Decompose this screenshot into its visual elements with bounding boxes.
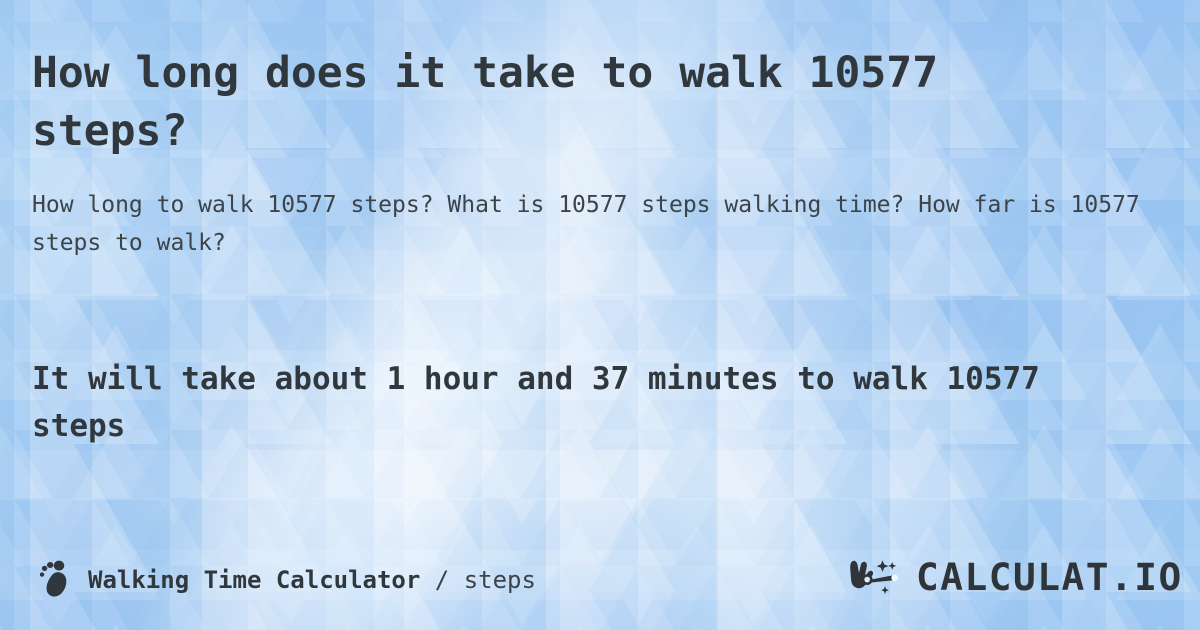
og-image-card: How long does it take to walk 10577 step… (0, 0, 1200, 630)
page-title: How long does it take to walk 10577 step… (32, 44, 1112, 160)
brand-label: Walking Time Calculator / steps (88, 566, 536, 594)
answer-text: It will take about 1 hour and 37 minutes… (32, 356, 1122, 450)
brand-name: Walking Time Calculator (88, 566, 420, 594)
logo-wordmark: CALCULAT.IO (916, 559, 1183, 597)
card-content: How long does it take to walk 10577 step… (0, 0, 1200, 630)
hand-magic-wand-icon (848, 557, 910, 599)
page-subtitle: How long to walk 10577 steps? What is 10… (32, 186, 1142, 262)
footprint-icon (40, 560, 74, 600)
brand-separator: / (435, 566, 449, 594)
site-logo[interactable]: CALCULAT.IO (848, 554, 1178, 602)
brand-section: steps (464, 566, 536, 594)
brand-block[interactable]: Walking Time Calculator / steps (40, 552, 536, 608)
footer: Walking Time Calculator / steps (0, 552, 1200, 612)
